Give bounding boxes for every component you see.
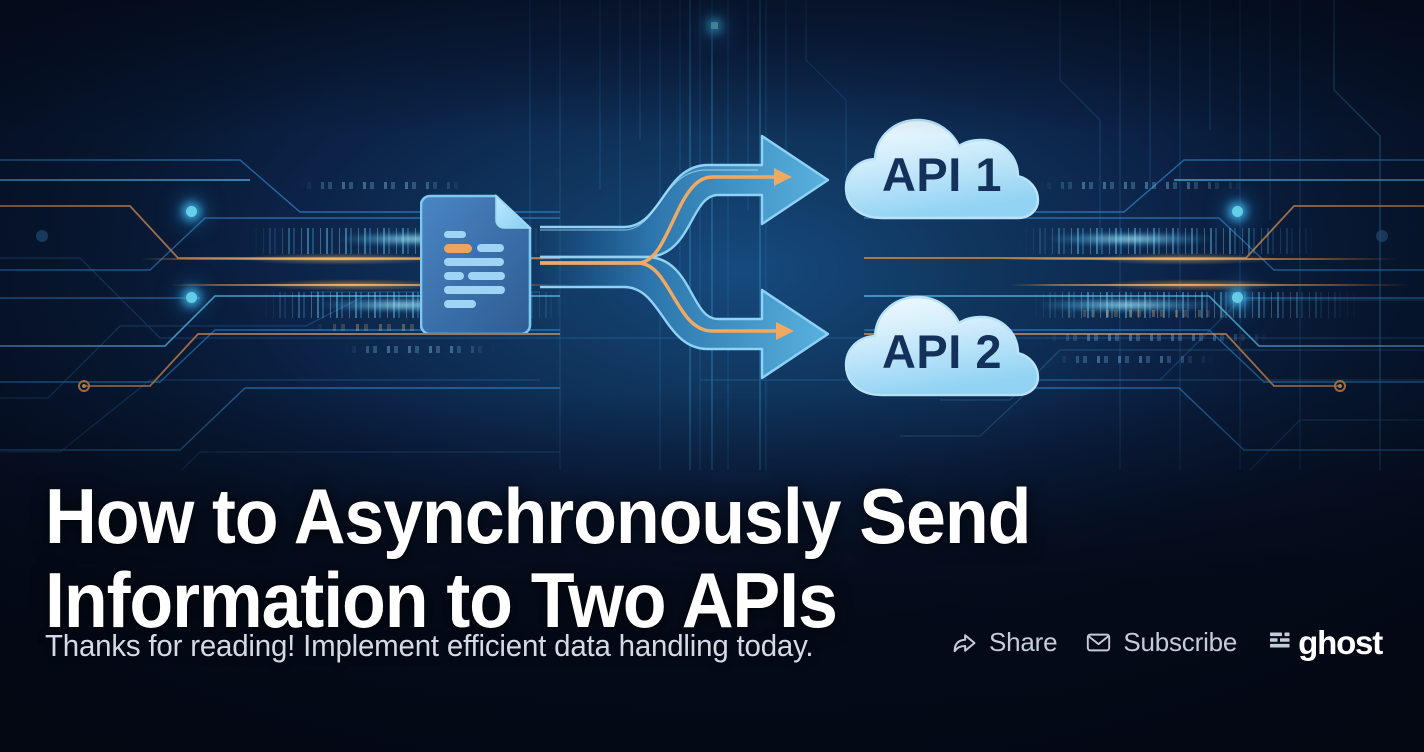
share-label: Share (989, 627, 1057, 658)
action-bar: Share Subscribe (950, 626, 1382, 659)
share-arrow-icon (950, 629, 978, 657)
page-title: How to Asynchronously Send Information t… (45, 474, 1057, 642)
share-button[interactable]: Share (950, 627, 1057, 658)
share-card: API 1 API 2 How to Asynchronously Send I… (0, 0, 1424, 752)
subscribe-label: Subscribe (1123, 627, 1237, 658)
page-subtitle: Thanks for reading! Implement efficient … (45, 627, 813, 665)
envelope-icon (1085, 629, 1112, 656)
subscribe-button[interactable]: Subscribe (1085, 627, 1237, 658)
ghost-logo-icon (1269, 629, 1291, 656)
ghost-brand[interactable]: ghost (1269, 626, 1382, 659)
text-overlay: How to Asynchronously Send Information t… (0, 422, 1424, 752)
ghost-wordmark: ghost (1298, 626, 1382, 659)
